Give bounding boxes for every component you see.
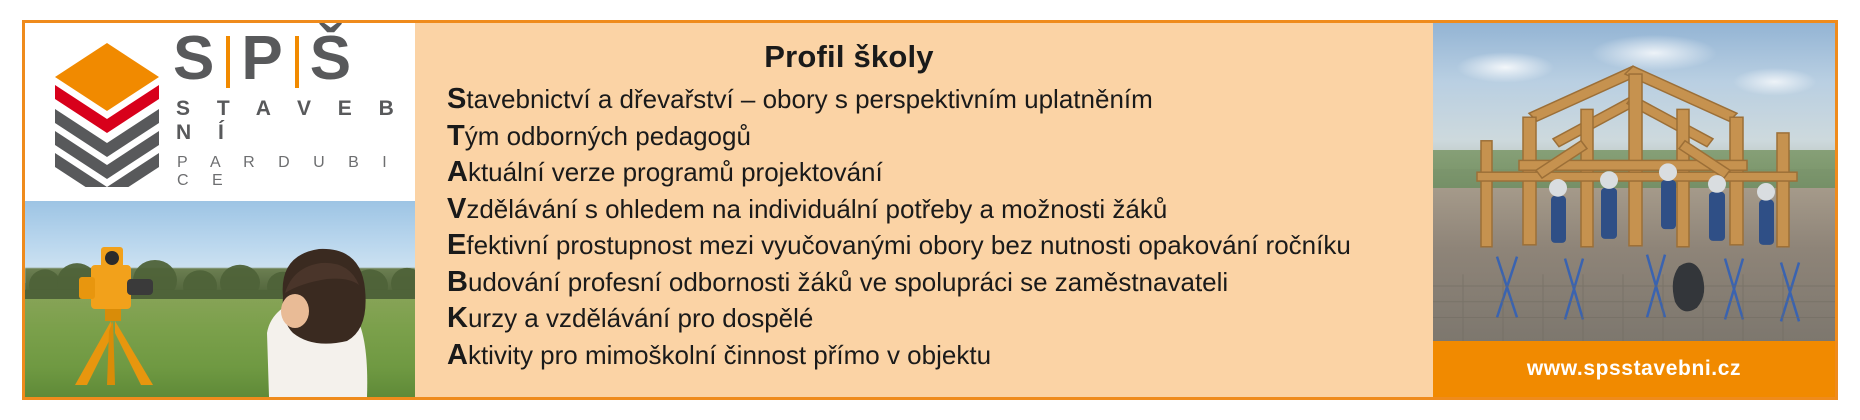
bullet-text: tavebnictví a dřevařství – obory s persp… xyxy=(466,84,1152,114)
profile-bullet-list: Stavebnictví a dřevařství – obory s pers… xyxy=(415,81,1433,373)
bullet-text: urzy a vzdělávání pro dospělé xyxy=(468,303,813,333)
list-item: Aktivity pro mimoškolní činnost přímo v … xyxy=(447,337,1433,374)
stacked-chevron-diamond-icon xyxy=(47,37,167,187)
logo-letter-p: P xyxy=(241,30,283,89)
bullet-text: ktivity pro mimoškolní činnost přímo v o… xyxy=(468,340,991,370)
bullet-text: zdělávání s ohledem na individuální potř… xyxy=(466,194,1167,224)
bullet-initial: A xyxy=(447,339,468,371)
theodolite-instrument xyxy=(57,235,167,385)
list-item: Vzdělávání s ohledem na individuální pot… xyxy=(447,191,1433,228)
bullet-text: fektivní prostupnost mezi vyučovanými ob… xyxy=(466,230,1350,260)
logo-letters: S P Š xyxy=(173,30,415,89)
bullet-text: ktuální verze programů projektování xyxy=(468,157,883,187)
website-url-bar[interactable]: www.spsstavebni.cz xyxy=(1433,341,1835,397)
list-item: Efektivní prostupnost mezi vyučovanými o… xyxy=(447,227,1433,264)
surveyor-with-theodolite-photo xyxy=(25,201,415,397)
right-column: www.spsstavebni.cz xyxy=(1433,23,1835,397)
logo-subtitle-stavebni: S T A V E B N Í xyxy=(176,97,415,145)
timber-structure xyxy=(1433,23,1835,341)
school-profile-banner: S P Š S T A V E B N Í P A R D U B I C E xyxy=(22,20,1838,400)
school-logo: S P Š S T A V E B N Í P A R D U B I C E xyxy=(25,23,415,201)
bullet-initial: V xyxy=(447,193,466,225)
left-column: S P Š S T A V E B N Í P A R D U B I C E xyxy=(25,23,415,397)
bullet-initial: S xyxy=(447,83,466,115)
logo-divider-bar-2 xyxy=(295,36,299,88)
list-item: Kurzy a vzdělávání pro dospělé xyxy=(447,300,1433,337)
timber-frame-construction-photo xyxy=(1433,23,1835,341)
list-item: Aktuální verze programů projektování xyxy=(447,154,1433,191)
logo-divider-bar-1 xyxy=(226,36,230,88)
logo-letter-s1: S xyxy=(173,30,215,89)
page-title: Profil školy xyxy=(415,39,1433,75)
list-item: Budování profesní odbornosti žáků ve spo… xyxy=(447,264,1433,301)
list-item: Tým odborných pedagogů xyxy=(447,118,1433,155)
student-figure xyxy=(209,237,399,397)
bullet-initial: T xyxy=(447,120,465,152)
logo-wordmark: S P Š S T A V E B N Í P A R D U B I C E xyxy=(173,30,415,195)
bullet-text: udování profesní odbornosti žáků ve spol… xyxy=(468,267,1228,297)
bullet-initial: E xyxy=(447,229,466,261)
list-item: Stavebnictví a dřevařství – obory s pers… xyxy=(447,81,1433,118)
website-url[interactable]: www.spsstavebni.cz xyxy=(1527,357,1741,381)
logo-subtitle-pardubice: P A R D U B I C E xyxy=(177,154,415,190)
bullet-text: ým odborných pedagogů xyxy=(465,121,751,151)
bullet-initial: B xyxy=(447,266,468,298)
bullet-initial: A xyxy=(447,156,468,188)
profile-content: Profil školy Stavebnictví a dřevařství –… xyxy=(415,23,1433,397)
bullet-initial: K xyxy=(447,302,468,334)
logo-letter-s2: Š xyxy=(310,30,352,89)
